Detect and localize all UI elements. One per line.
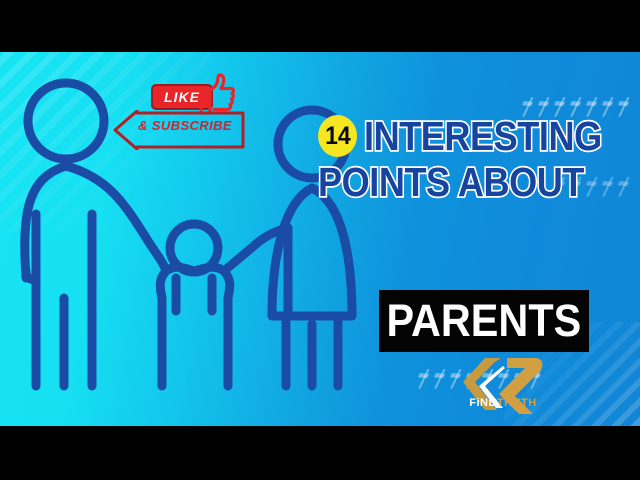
headline-block: 14 INTERESTING POINTS ABOUT <box>318 112 638 206</box>
chevron-icon <box>435 356 448 395</box>
number-badge: 14 <box>318 115 357 157</box>
brand-name-part2: TRUTH <box>497 397 537 409</box>
headline-line-2: POINTS ABOUT <box>318 162 584 202</box>
letterbox-bar-top <box>0 0 640 52</box>
headline-line-2-row: POINTS ABOUT <box>318 158 638 206</box>
thumbs-up-icon <box>197 73 237 115</box>
letterbox-bar-bottom <box>0 426 640 480</box>
number-badge-value: 14 <box>325 122 351 151</box>
child-arms <box>166 267 224 271</box>
thumbnail-canvas: LIKE & SUBSCRIBE 14 INTERESTING POINTS A… <box>0 52 640 426</box>
headline-line-1: INTERESTING <box>364 116 602 156</box>
child-leg-right <box>224 271 230 386</box>
chevron-icon <box>419 356 432 395</box>
brand-name-part1: FiND <box>469 397 497 409</box>
like-label: LIKE <box>164 89 200 105</box>
subscribe-label: & SUBSCRIBE <box>138 118 232 133</box>
headline-line-1-row: 14 INTERESTING <box>318 112 638 160</box>
child-leg-left <box>160 271 166 386</box>
father-head <box>28 83 104 159</box>
highlight-word: PARENTS <box>387 295 582 347</box>
video-thumbnail: LIKE & SUBSCRIBE 14 INTERESTING POINTS A… <box>0 0 640 480</box>
brand-name: FiNDTRUTH <box>455 397 551 409</box>
highlight-word-box: PARENTS <box>379 290 589 352</box>
like-subscribe-badge[interactable]: LIKE & SUBSCRIBE <box>113 72 243 150</box>
findtruth-logo-icon <box>455 352 551 424</box>
